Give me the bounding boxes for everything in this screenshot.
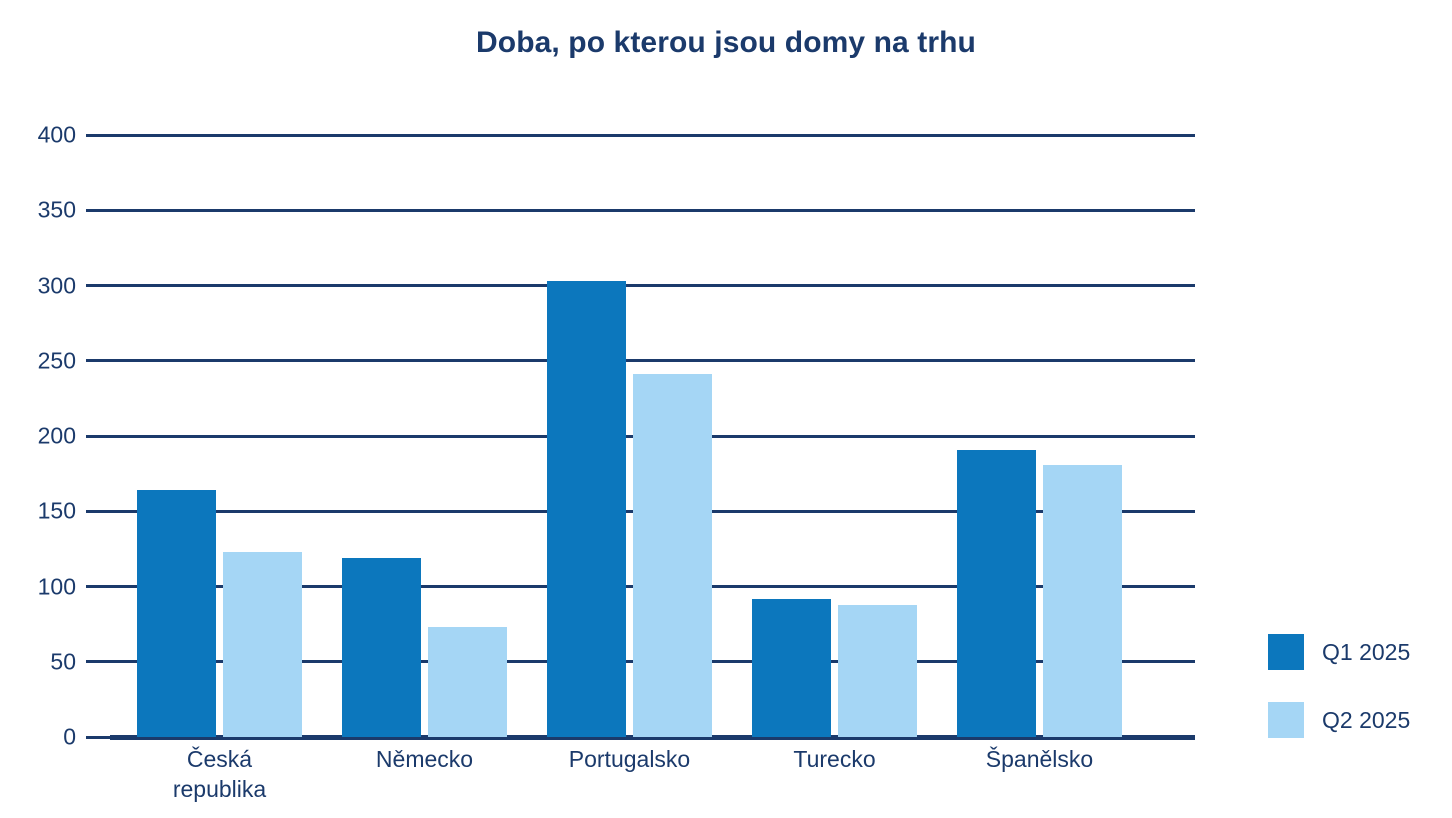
bar[interactable] — [1043, 465, 1122, 737]
y-axis-tick-label: 0 — [63, 724, 76, 751]
x-axis-category-label: Španělsko — [900, 744, 1180, 774]
bar-group — [547, 135, 712, 737]
y-axis-tick-label: 100 — [38, 573, 76, 600]
legend-label: Q2 2025 — [1322, 707, 1410, 734]
plot-area: 400350300250200150100500 — [110, 135, 1195, 737]
bar-group — [342, 135, 507, 737]
bar[interactable] — [223, 552, 302, 737]
legend-item[interactable]: Q1 2025 — [1268, 634, 1410, 670]
y-axis-tick — [86, 736, 110, 739]
legend-label: Q1 2025 — [1322, 639, 1410, 666]
chart-root: Doba, po kterou jsou domy na trhu 400350… — [0, 0, 1452, 818]
bar[interactable] — [428, 627, 507, 737]
bar-group — [957, 135, 1122, 737]
y-axis-tick-label: 350 — [38, 197, 76, 224]
y-axis-tick — [86, 660, 110, 663]
y-axis-tick-label: 150 — [38, 498, 76, 525]
bar[interactable] — [342, 558, 421, 737]
bar[interactable] — [547, 281, 626, 737]
legend-swatch-icon — [1268, 702, 1304, 738]
y-axis-tick — [86, 435, 110, 438]
bar[interactable] — [752, 599, 831, 737]
y-axis-tick — [86, 284, 110, 287]
y-axis-tick — [86, 209, 110, 212]
chart-legend: Q1 2025Q2 2025 — [1268, 634, 1410, 738]
y-axis-tick-label: 250 — [38, 347, 76, 374]
bar-group — [137, 135, 302, 737]
bar[interactable] — [137, 490, 216, 737]
y-axis-tick-label: 50 — [50, 648, 76, 675]
legend-swatch-icon — [1268, 634, 1304, 670]
y-axis-tick-label: 400 — [38, 122, 76, 149]
y-axis-tick — [86, 134, 110, 137]
bar[interactable] — [838, 605, 917, 737]
y-axis-tick — [86, 510, 110, 513]
y-axis-tick-label: 200 — [38, 423, 76, 450]
y-axis-tick — [86, 359, 110, 362]
bar-group — [752, 135, 917, 737]
y-axis-tick-label: 300 — [38, 272, 76, 299]
bar[interactable] — [633, 374, 712, 737]
bar[interactable] — [957, 450, 1036, 737]
y-axis-tick — [86, 585, 110, 588]
chart-title: Doba, po kterou jsou domy na trhu — [0, 26, 1452, 60]
legend-item[interactable]: Q2 2025 — [1268, 702, 1410, 738]
